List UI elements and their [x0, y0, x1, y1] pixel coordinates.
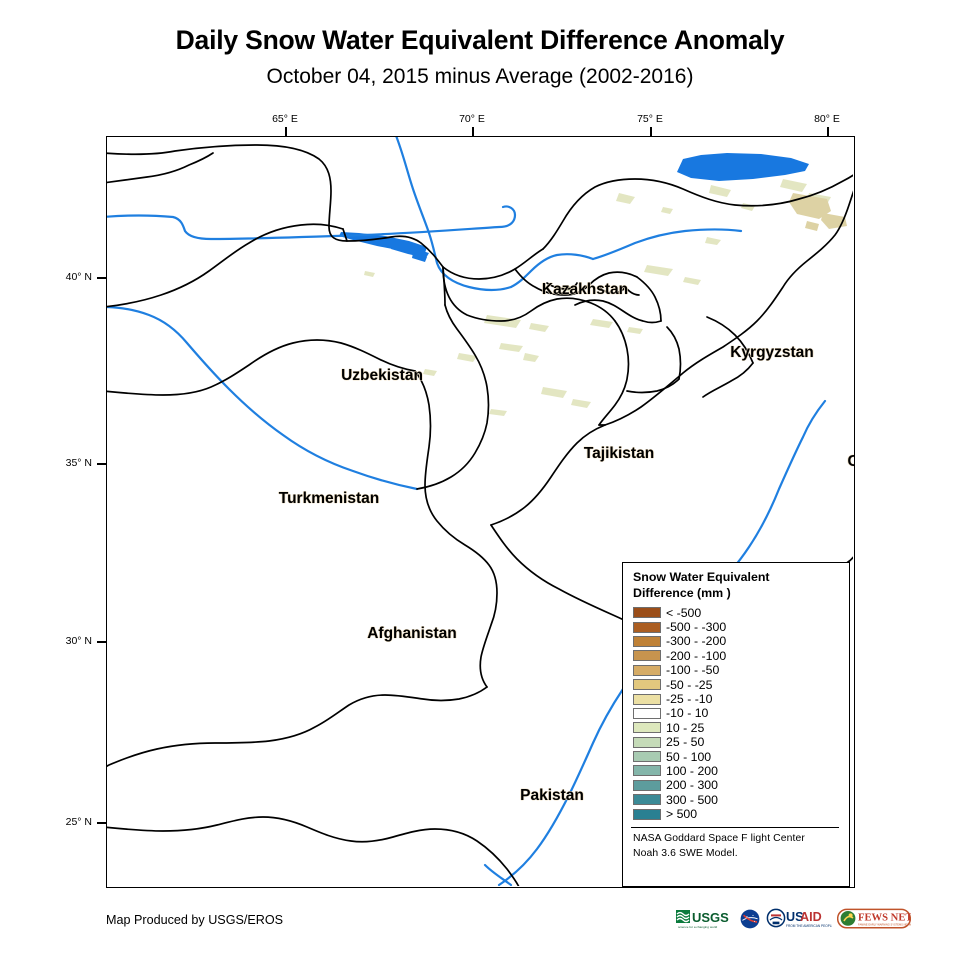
- legend-row: -300 - -200: [633, 634, 841, 648]
- lon-tick-label-2: 75° E: [620, 113, 680, 125]
- legend-swatch: [633, 636, 661, 647]
- legend-row: 300 - 500: [633, 793, 841, 807]
- svg-text:FROM THE AMERICAN PEOPLE: FROM THE AMERICAN PEOPLE: [786, 924, 832, 928]
- legend-row: -500 - -300: [633, 620, 841, 634]
- legend-label: -100 - -50: [666, 663, 719, 677]
- legend-swatch: [633, 650, 661, 661]
- lon-tick-label-3: 80° E: [797, 113, 857, 125]
- legend-label: -500 - -300: [666, 620, 726, 634]
- country-label-kazakhstan: Kazakhstan: [542, 281, 628, 299]
- legend-swatch: [633, 694, 661, 705]
- legend-swatch: [633, 722, 661, 733]
- svg-text:FEWS NET: FEWS NET: [858, 913, 911, 924]
- legend-row: < -500: [633, 606, 841, 620]
- footer-credit: Map Produced by USGS/EROS: [106, 913, 283, 927]
- country-label-kyrgyzstan: Kyrgyzstan: [730, 344, 814, 362]
- legend-row: > 500: [633, 807, 841, 821]
- legend-row: 200 - 300: [633, 778, 841, 792]
- lat-tick-mark-1: [97, 463, 106, 465]
- country-label-tajikistan: Tajikistan: [584, 445, 654, 463]
- legend-row: -200 - -100: [633, 649, 841, 663]
- legend-swatch: [633, 622, 661, 633]
- legend-label: 25 - 50: [666, 735, 704, 749]
- country-label-china: China: [847, 453, 855, 471]
- agency-logo-strip: USGS science for a changing world US AID…: [676, 908, 911, 930]
- nasa-logo: [739, 908, 761, 930]
- legend-label: 300 - 500: [666, 793, 718, 807]
- lat-tick-mark-2: [97, 641, 106, 643]
- legend-swatch: [633, 751, 661, 762]
- fewsnet-logo: FEWS NET FAMINE EARLY WARNING SYSTEMS NE…: [837, 908, 911, 930]
- lake-issyk-kul: [677, 153, 809, 181]
- page-title: Daily Snow Water Equivalent Difference A…: [0, 26, 960, 55]
- page-subtitle: October 04, 2015 minus Average (2002-201…: [0, 65, 960, 88]
- legend-label: -25 - -10: [666, 692, 712, 706]
- svg-text:FAMINE EARLY WARNING SYSTEMS N: FAMINE EARLY WARNING SYSTEMS NETWORK: [858, 923, 911, 927]
- title-block: Daily Snow Water Equivalent Difference A…: [0, 26, 960, 88]
- country-label-turkmenistan: Turkmenistan: [279, 490, 380, 508]
- legend-swatch: [633, 794, 661, 805]
- legend-label: 50 - 100: [666, 750, 711, 764]
- lat-tick-mark-3: [97, 822, 106, 824]
- water-body-uzbekistan: [339, 232, 429, 262]
- lon-tick-mark-3: [827, 127, 829, 136]
- legend-swatch: [633, 679, 661, 690]
- legend-label: -50 - -25: [666, 678, 712, 692]
- lon-tick-mark-1: [472, 127, 474, 136]
- country-label-pakistan: Pakistan: [520, 787, 584, 805]
- legend-row: -10 - 10: [633, 706, 841, 720]
- legend-title: Snow Water Equivalent Difference (mm ): [633, 570, 841, 602]
- lat-tick-label-0: 40° N: [32, 271, 92, 283]
- svg-text:AID: AID: [800, 910, 822, 924]
- legend-swatch: [633, 607, 661, 618]
- legend-divider: [631, 827, 839, 828]
- usaid-logo: US AID FROM THE AMERICAN PEOPLE: [766, 908, 832, 930]
- legend-swatch: [633, 737, 661, 748]
- legend-label: > 500: [666, 807, 697, 821]
- lat-tick-label-1: 35° N: [32, 457, 92, 469]
- legend: Snow Water Equivalent Difference (mm ) <…: [622, 562, 850, 887]
- legend-row: 100 - 200: [633, 764, 841, 778]
- legend-label: -300 - -200: [666, 634, 726, 648]
- lon-tick-mark-2: [650, 127, 652, 136]
- lat-tick-mark-0: [97, 277, 106, 279]
- lat-tick-label-3: 25° N: [32, 816, 92, 828]
- legend-row: -100 - -50: [633, 663, 841, 677]
- lat-tick-label-2: 30° N: [32, 635, 92, 647]
- legend-swatch: [633, 809, 661, 820]
- lon-tick-label-1: 70° E: [442, 113, 502, 125]
- legend-row: -50 - -25: [633, 677, 841, 691]
- legend-swatch: [633, 765, 661, 776]
- legend-label: 100 - 200: [666, 764, 718, 778]
- legend-row: 25 - 50: [633, 735, 841, 749]
- legend-label: -10 - 10: [666, 706, 708, 720]
- legend-credit: NASA Goddard Space F light Center Noah 3…: [633, 832, 841, 862]
- legend-entries: < -500-500 - -300-300 - -200-200 - -100-…: [633, 606, 841, 822]
- legend-label: 200 - 300: [666, 778, 718, 792]
- legend-swatch: [633, 708, 661, 719]
- usgs-logo: USGS science for a changing world: [676, 908, 734, 930]
- legend-label: 10 - 25: [666, 721, 704, 735]
- legend-label: -200 - -100: [666, 649, 726, 663]
- legend-swatch: [633, 780, 661, 791]
- lon-tick-mark-0: [285, 127, 287, 136]
- legend-label: < -500: [666, 606, 701, 620]
- legend-swatch: [633, 665, 661, 676]
- legend-row: -25 - -10: [633, 692, 841, 706]
- legend-row: 50 - 100: [633, 749, 841, 763]
- svg-text:USGS: USGS: [692, 910, 729, 925]
- svg-text:science for a changing world: science for a changing world: [678, 925, 717, 929]
- country-label-uzbekistan: Uzbekistan: [341, 367, 423, 385]
- lon-tick-label-0: 65° E: [255, 113, 315, 125]
- legend-row: 10 - 25: [633, 721, 841, 735]
- country-label-afghanistan: Afghanistan: [367, 625, 457, 643]
